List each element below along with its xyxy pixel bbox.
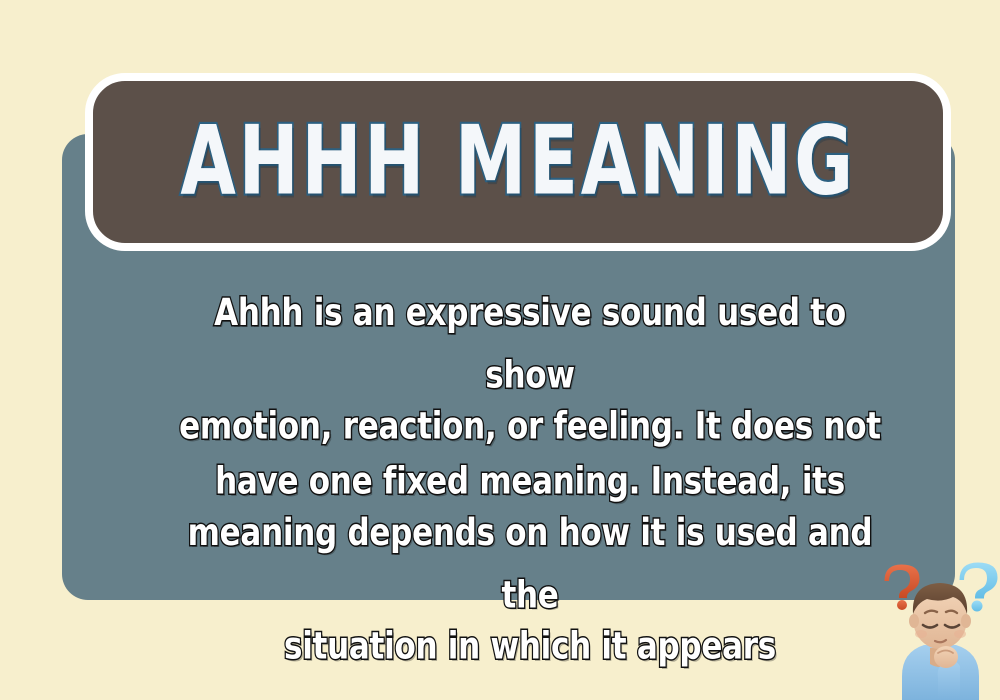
body-line-2: emotion, reaction, or feeling. It does n…: [173, 394, 887, 457]
infographic-canvas: AHHH MEANING Ahhh is an expressive sound…: [0, 0, 1000, 700]
body-line-5: situation in which it appears: [173, 614, 887, 677]
title-card: AHHH MEANING: [85, 73, 951, 251]
body-line-1: Ahhh is an expressive sound used to show: [173, 280, 887, 405]
body-paragraph: Ahhh is an expressive sound used to show…: [150, 288, 910, 673]
page-title: AHHH MEANING: [180, 114, 855, 209]
body-line-4: meaning depends on how it is used and th…: [173, 500, 887, 625]
thinking-face-person-emoji: [880, 556, 1000, 700]
